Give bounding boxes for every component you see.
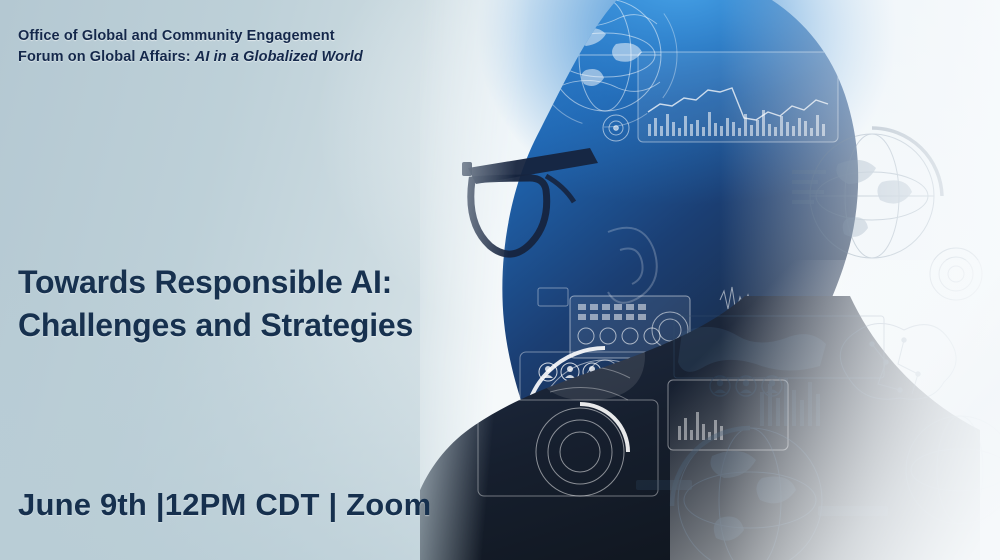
- hero-photograph: [420, 0, 1000, 560]
- kicker-line-2-prefix: Forum on Global Affairs:: [18, 49, 191, 65]
- kicker-line-2: Forum on Global Affairs: AI in a Globali…: [18, 47, 363, 68]
- headline-line-2: Challenges and Strategies: [18, 304, 413, 346]
- event-kicker: Office of Global and Community Engagemen…: [18, 26, 363, 68]
- event-poster: Office of Global and Community Engagemen…: [0, 0, 1000, 560]
- kicker-line-2-italic: AI in a Globalized World: [195, 49, 363, 65]
- kicker-line-1: Office of Global and Community Engagemen…: [18, 26, 363, 47]
- hud-readout-lines: [528, 10, 572, 64]
- event-details: June 9th |12PM CDT | Zoom: [18, 487, 431, 523]
- page-title: Towards Responsible AI: Challenges and S…: [18, 261, 413, 345]
- double-exposure-artwork: [420, 0, 1000, 560]
- headline-line-1: Towards Responsible AI:: [18, 261, 413, 303]
